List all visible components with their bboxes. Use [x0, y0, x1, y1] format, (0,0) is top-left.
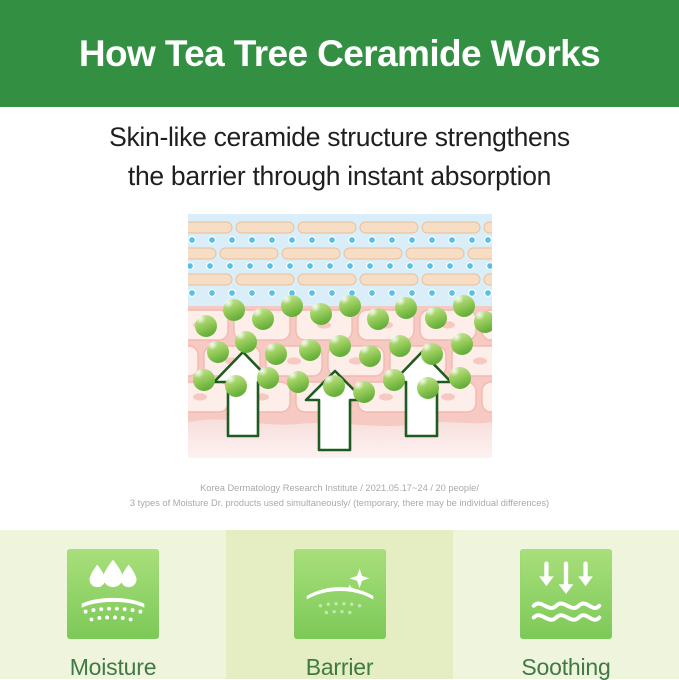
barrier-arc-sparkle-icon	[294, 549, 386, 639]
benefits-strip: Moisture	[0, 530, 679, 679]
subtitle-line-1: Skin-like ceramide structure strengthens	[0, 118, 679, 157]
infographic-page: How Tea Tree Ceramide Works Skin-like ce…	[0, 0, 679, 679]
caption-line-1: Korea Dermatology Research Institute / 2…	[0, 481, 679, 496]
study-caption: Korea Dermatology Research Institute / 2…	[0, 481, 679, 510]
caption-line-2: 3 types of Moisture Dr. products used si…	[0, 496, 679, 511]
subtitle-block: Skin-like ceramide structure strengthens…	[0, 118, 679, 196]
benefit-label-barrier: Barrier	[306, 656, 374, 679]
benefit-card-barrier: Barrier	[226, 530, 453, 679]
water-drops-icon	[67, 549, 159, 639]
subtitle-line-2: the barrier through instant absorption	[0, 157, 679, 196]
page-title: How Tea Tree Ceramide Works	[79, 35, 600, 72]
benefit-card-soothing: Soothing	[453, 530, 679, 679]
benefit-label-moisture: Moisture	[70, 656, 157, 679]
skin-cross-section-diagram	[188, 214, 492, 458]
header-banner: How Tea Tree Ceramide Works	[0, 0, 679, 107]
down-arrows-waves-icon	[520, 549, 612, 639]
benefit-card-moisture: Moisture	[0, 530, 226, 679]
benefit-label-soothing: Soothing	[521, 656, 610, 679]
